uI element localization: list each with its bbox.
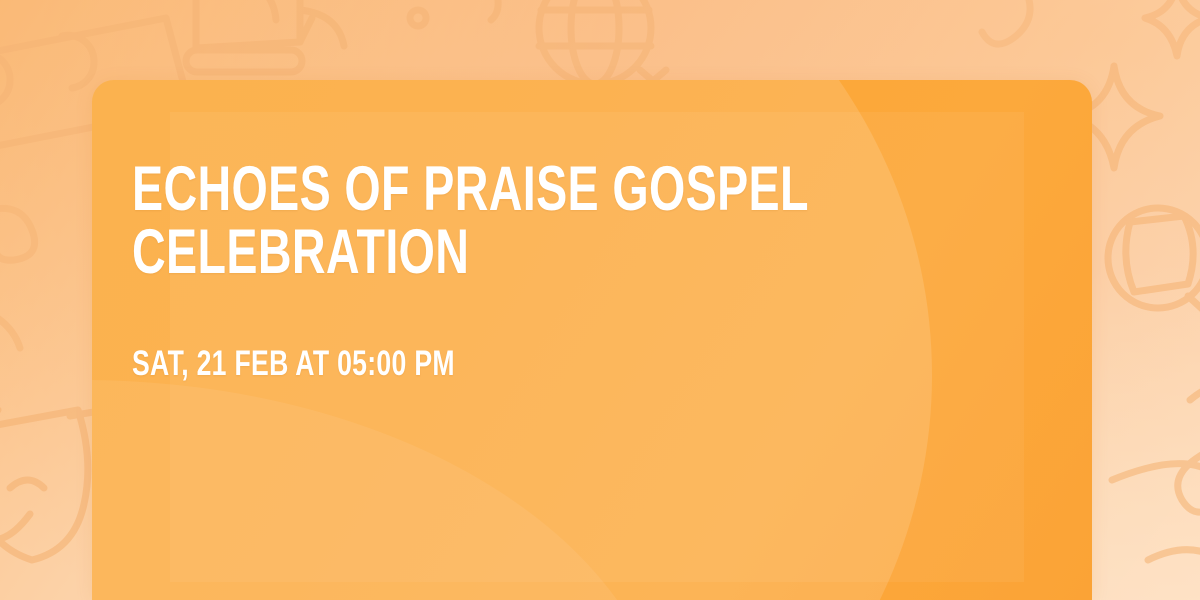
streamer-swirl-icon xyxy=(1112,381,1200,568)
globe-icon xyxy=(539,0,666,92)
streamer-swirl-icon xyxy=(982,0,1030,44)
graduation-cap-icon xyxy=(186,0,344,72)
event-datetime: SAT, 21 FEB AT 05:00 PM xyxy=(132,284,831,381)
confetti-dot-icon xyxy=(410,0,498,26)
event-card[interactable]: ECHOES OF PRAISE GOSPEL CELEBRATION SAT,… xyxy=(92,80,1092,600)
event-banner: ECHOES OF PRAISE GOSPEL CELEBRATION SAT,… xyxy=(0,0,1200,600)
event-card-content: ECHOES OF PRAISE GOSPEL CELEBRATION SAT,… xyxy=(132,158,1052,381)
microphone-icon xyxy=(1108,208,1200,342)
spiral-swirl-icon xyxy=(0,208,35,348)
event-title: ECHOES OF PRAISE GOSPEL CELEBRATION xyxy=(132,158,813,284)
sparkle-icon xyxy=(1145,0,1200,56)
